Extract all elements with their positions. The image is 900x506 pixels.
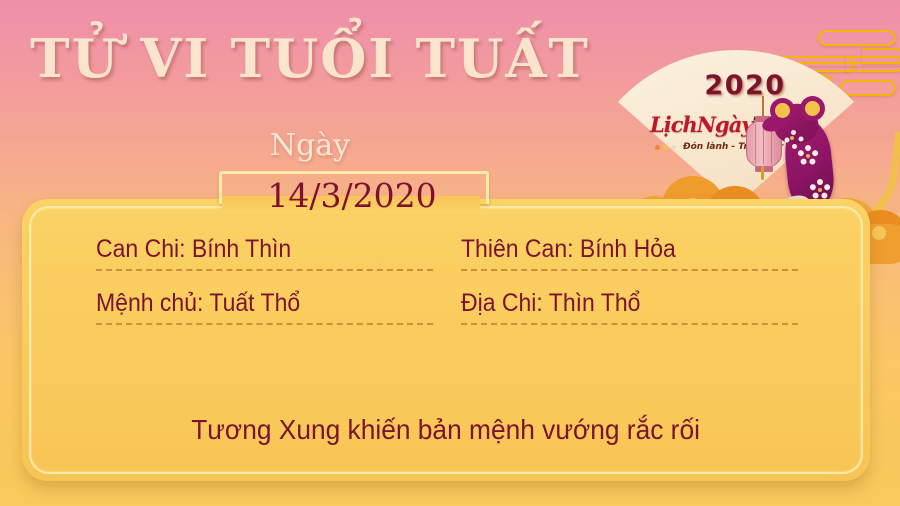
info-divider [461,323,798,325]
summary-text: Tương Xung khiến bản mệnh vướng rắc rối [22,414,870,446]
horoscope-card: 2020 LịchNgàyTT.com Đón lành - Tránh dữ [0,0,900,506]
info-cell-dia-chi: Địa Chi: Thìn Thổ [447,289,812,343]
info-cell-menh-chu: Mệnh chủ: Tuất Thổ [82,289,447,343]
info-panel: 14/3/2020 Can Chi: Bính Thìn Thiên Can: … [22,199,870,481]
date-value: 14/3/2020 [218,176,486,215]
tag-dot-1 [655,145,660,150]
tag-dot-3 [671,145,676,150]
info-row: Mệnh chủ: Tuất Thổ Địa Chi: Thìn Thổ [82,289,812,343]
info-text-menh-chu: Mệnh chủ: Tuất Thổ [96,289,406,323]
info-divider [461,269,798,271]
rat-ear-right [800,96,825,121]
brand-ngay: Ngày [697,112,753,137]
tag-dot-2 [663,145,668,150]
rat-ear-left [770,98,795,123]
brand-lich: Lịch [650,112,697,137]
info-divider [96,269,433,271]
summary-label: Tương Xung khiến bản mệnh vướng rắc rối [192,414,701,446]
info-cell-can-chi: Can Chi: Bính Thìn [82,235,447,289]
info-cell-thien-can: Thiên Can: Bính Hỏa [447,235,812,289]
info-text-thien-can: Thiên Can: Bính Hỏa [461,235,771,269]
date-label: Ngày [0,128,620,163]
info-grid: Can Chi: Bính Thìn Thiên Can: Bính Hỏa M… [82,235,812,343]
info-divider [96,323,433,325]
info-text-dia-chi: Địa Chi: Thìn Thổ [461,289,771,323]
logo-year: 2020 [690,70,800,101]
page-title: TỬ VI TUỔI TUẤT [0,28,620,90]
rat-flower-3 [786,132,797,143]
info-text-can-chi: Can Chi: Bính Thìn [96,235,406,269]
info-row: Can Chi: Bính Thìn Thiên Can: Bính Hỏa [82,235,812,289]
